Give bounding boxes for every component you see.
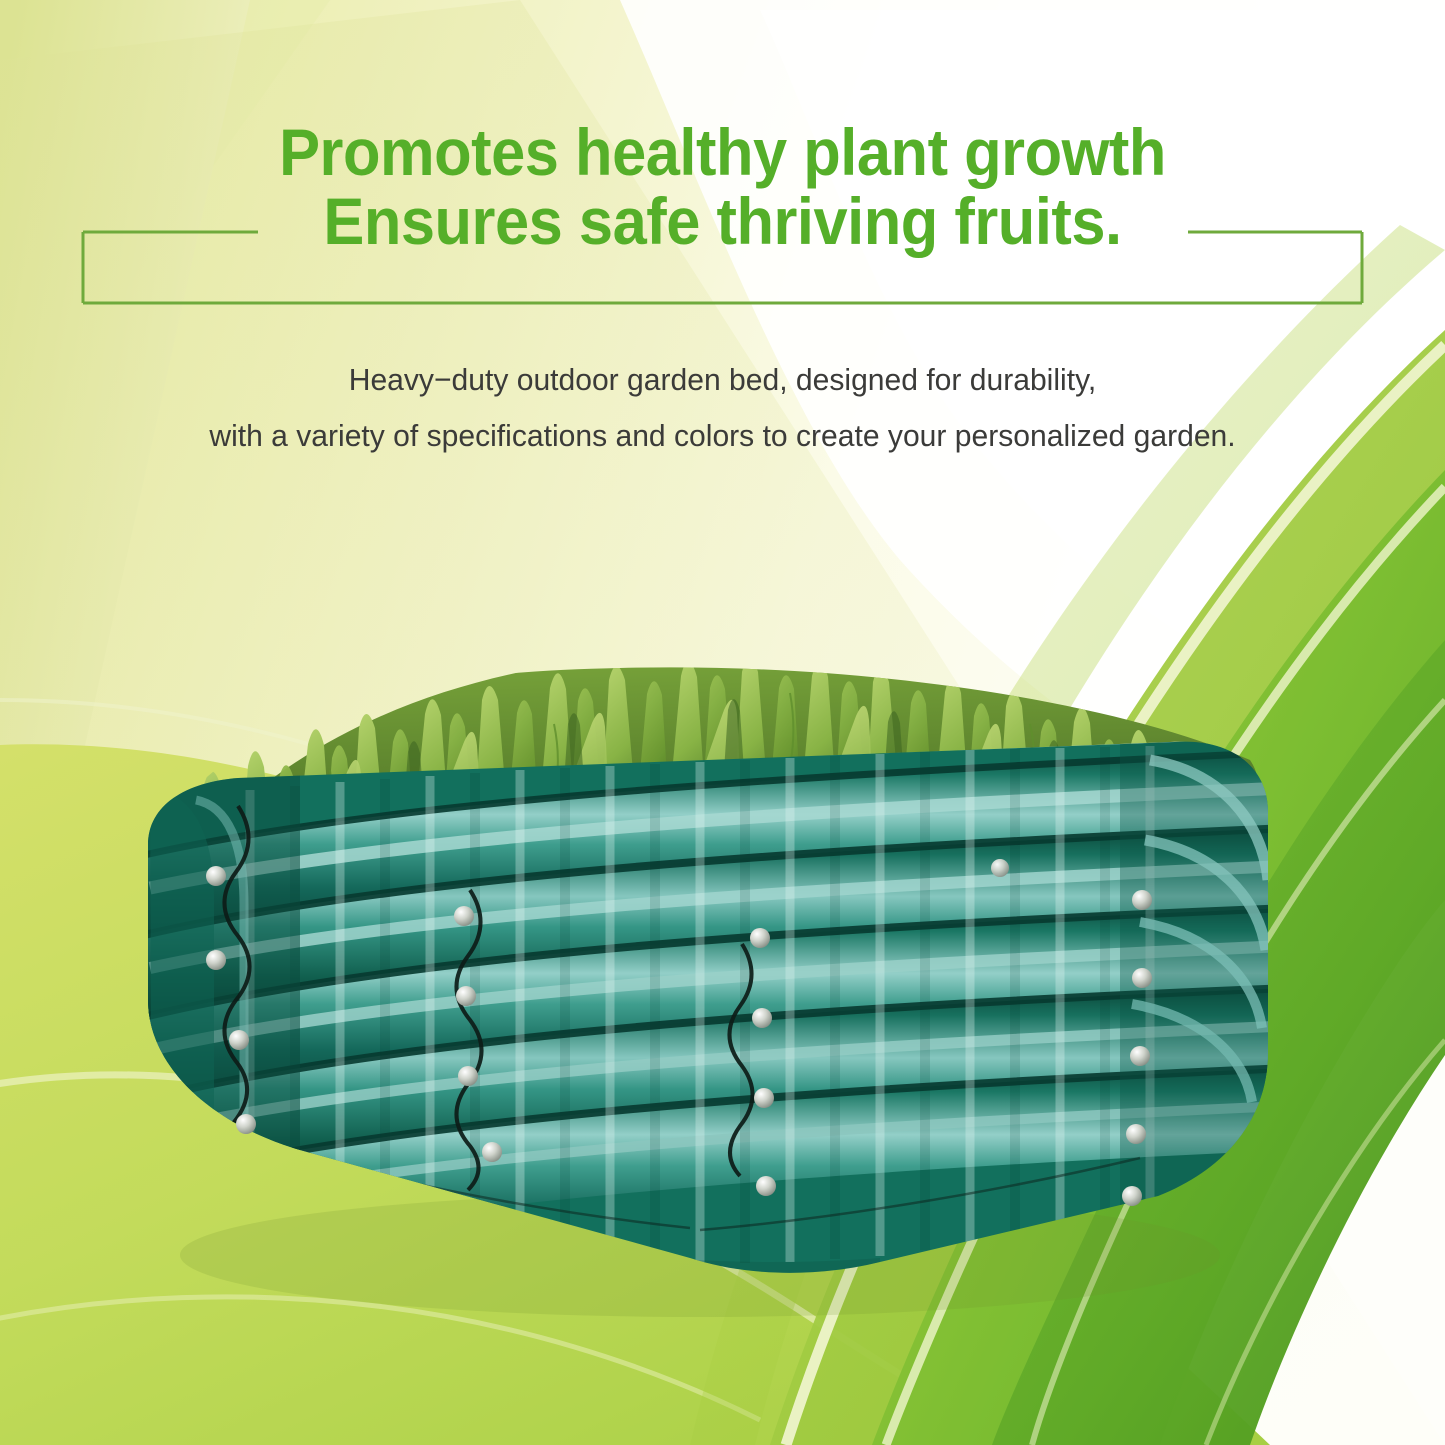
product-banner: Promotes healthy plant growth Ensures sa… xyxy=(0,0,1445,1445)
headline-line-1: Promotes healthy plant growth xyxy=(51,118,1395,187)
headline-line-2: Ensures safe thriving fruits. xyxy=(51,187,1395,256)
subtitle-line-1: Heavy−duty outdoor garden bed, designed … xyxy=(22,352,1424,408)
text-block: Promotes healthy plant growth Ensures sa… xyxy=(0,0,1445,520)
subtitle-line-2: with a variety of specifications and col… xyxy=(22,408,1424,464)
subtitle: Heavy−duty outdoor garden bed, designed … xyxy=(22,352,1424,465)
page-title: Promotes healthy plant growth Ensures sa… xyxy=(51,118,1395,255)
